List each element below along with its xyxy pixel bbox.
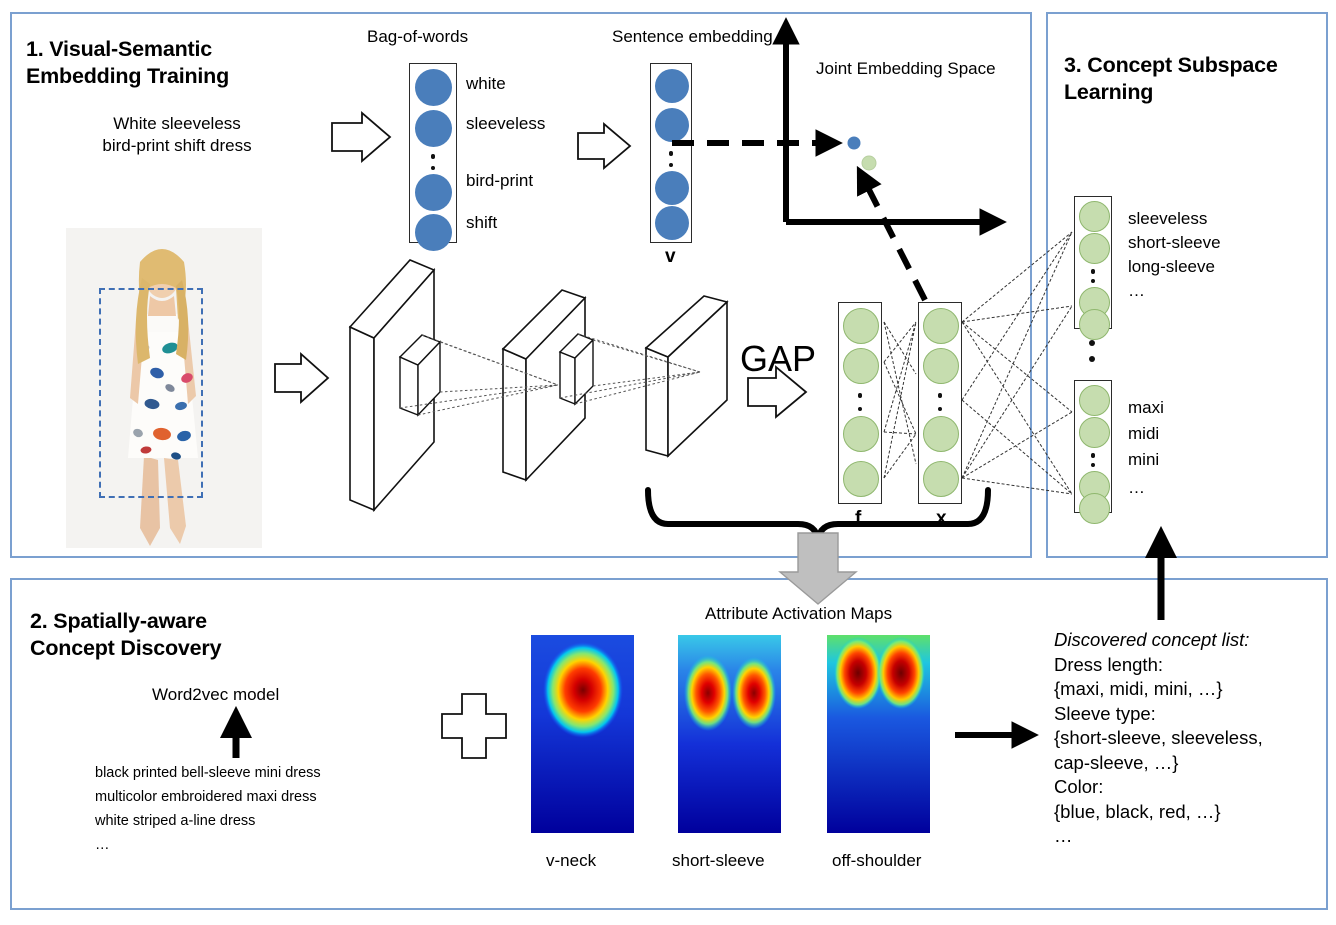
feature-label-f: f (855, 508, 861, 530)
concept-node (1079, 233, 1110, 264)
bow-node (415, 69, 452, 106)
feature-vector-column-f (838, 302, 882, 504)
corpus-line-3: white striped a-line dress (95, 811, 255, 832)
bow-vertical-dots (430, 154, 436, 170)
discovered-title: Discovered concept list: (1054, 628, 1263, 653)
bag-of-words-label: Bag-of-words (367, 26, 468, 48)
joint-embedding-space-label: Joint Embedding Space (816, 58, 996, 80)
bounding-box-dashed (99, 288, 203, 498)
bag-of-words-column (409, 63, 457, 243)
panel2-title-line2: Concept Discovery (30, 636, 221, 660)
f-node (843, 416, 879, 452)
discovered-line-7: {blue, black, red, …} (1054, 800, 1263, 825)
discovered-line-2: {maxi, midi, mini, …} (1054, 677, 1263, 702)
projected-vector-column-x (918, 302, 962, 504)
activation-map-label-v-neck: v-neck (546, 850, 596, 872)
input-caption: White sleeveless bird-print shift dress (42, 113, 312, 157)
bow-word-shift: shift (466, 212, 497, 234)
bow-word-white: white (466, 73, 506, 95)
concept-mini: mini (1128, 449, 1159, 471)
bow-word-bird-print: bird-print (466, 170, 533, 192)
sentence-embedding-label: Sentence embedding (612, 26, 773, 48)
attribute-activation-maps-label: Attribute Activation Maps (705, 603, 892, 625)
activation-map-label-off-shoulder: off-shoulder (832, 850, 921, 872)
sentence-vector-label: v (665, 246, 676, 268)
sentence-node (655, 108, 689, 142)
gap-label: GAP (740, 338, 816, 380)
concept-node (1079, 417, 1110, 448)
panel3-groups-dots (1088, 340, 1095, 362)
sentence-node (655, 171, 689, 205)
panel1-title: 1. Visual-Semantic Embedding Training (26, 36, 326, 90)
concept-group2-dots (1090, 453, 1096, 467)
discovered-concept-list: Discovered concept list: Dress length: {… (1054, 628, 1263, 849)
discovered-line-1: Dress length: (1054, 653, 1263, 678)
panel2-title: 2. Spatially-aware Concept Discovery (30, 608, 350, 662)
discovered-line-5: cap-sleeve, …} (1054, 751, 1263, 776)
panel3-title-line2: Learning (1064, 80, 1153, 104)
panel1-title-line1: 1. Visual-Semantic (26, 37, 212, 61)
projected-label-x: x (936, 508, 947, 530)
input-caption-line2: bird-print shift dress (102, 136, 251, 155)
sentence-node (655, 206, 689, 240)
discovered-line-3: Sleeve type: (1054, 702, 1263, 727)
f-vertical-dots (857, 393, 863, 411)
bow-node (415, 110, 452, 147)
panel3-title-line1: 3. Concept Subspace (1064, 53, 1278, 77)
sentence-vertical-dots (668, 151, 674, 167)
panel3-title: 3. Concept Subspace Learning (1064, 52, 1334, 106)
bow-node (415, 174, 452, 211)
concept-node (1079, 201, 1110, 232)
sentence-embedding-column (650, 63, 692, 243)
concept-sleeveless: sleeveless (1128, 208, 1207, 230)
product-photo (66, 228, 262, 548)
activation-map-v-neck (531, 635, 634, 833)
activation-map-label-short-sleeve: short-sleeve (672, 850, 765, 872)
concept-short-sleeve: short-sleeve (1128, 232, 1221, 254)
concept-midi: midi (1128, 423, 1159, 445)
concept-long-sleeve: long-sleeve (1128, 256, 1215, 278)
concept-group-length-column (1074, 380, 1112, 513)
x-node (923, 308, 959, 344)
x-node (923, 416, 959, 452)
f-node (843, 461, 879, 497)
activation-map-short-sleeve (678, 635, 781, 833)
discovered-line-6: Color: (1054, 775, 1263, 800)
input-caption-line1: White sleeveless (113, 114, 241, 133)
corpus-line-1: black printed bell-sleeve mini dress (95, 763, 321, 784)
concept-maxi: maxi (1128, 397, 1164, 419)
word2vec-label: Word2vec model (152, 684, 279, 706)
bow-node (415, 214, 452, 251)
bow-word-sleeveless: sleeveless (466, 113, 545, 135)
panel2-title-line1: 2. Spatially-aware (30, 609, 207, 633)
concept-group1-dots (1090, 269, 1096, 283)
concept-node (1079, 385, 1110, 416)
concept-group2-ellipsis: … (1128, 477, 1145, 499)
discovered-line-4: {short-sleeve, sleeveless, (1054, 726, 1263, 751)
concept-group-sleeve-column (1074, 196, 1112, 329)
concept-node (1079, 493, 1110, 524)
f-node (843, 348, 879, 384)
x-vertical-dots (937, 393, 943, 411)
concept-node (1079, 309, 1110, 340)
f-node (843, 308, 879, 344)
corpus-line-2: multicolor embroidered maxi dress (95, 787, 317, 808)
x-node (923, 461, 959, 497)
x-node (923, 348, 959, 384)
concept-group1-ellipsis: … (1128, 280, 1145, 302)
sentence-node (655, 69, 689, 103)
activation-map-off-shoulder (827, 635, 930, 833)
corpus-line-4: … (95, 835, 110, 856)
discovered-line-8: … (1054, 824, 1263, 849)
panel1-title-line2: Embedding Training (26, 64, 229, 88)
